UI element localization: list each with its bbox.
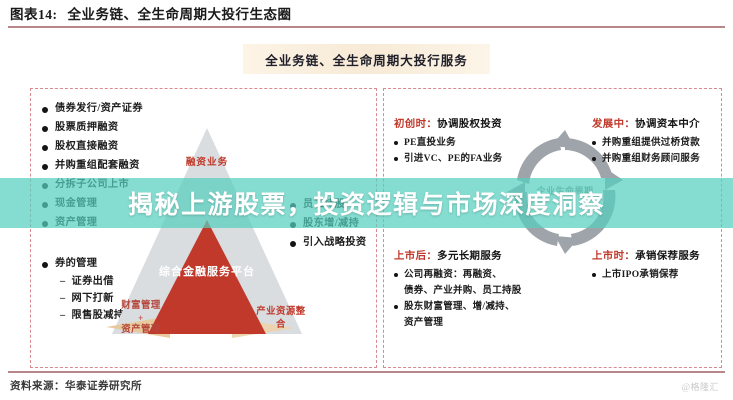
figure-canvas: 图表14:全业务链、全生命周期大投行生态圈 全业务链、全生命周期大投行服务 债券… xyxy=(0,0,733,400)
stage-name: 上市时： xyxy=(592,251,635,262)
stage-item-label: 公司再融资：再融资、 xyxy=(404,271,502,281)
stage-theme: 承销保荐服务 xyxy=(635,251,700,262)
figure-title-text: 全业务链、全生命周期大投行生态圈 xyxy=(68,7,292,22)
stage-startup: 初创时：协调股权投资 PE直投业务 引进VC、PE的FA业务 xyxy=(394,120,502,167)
stage-item: 并购重组提供过桥贷款 xyxy=(592,135,700,151)
sub-list-item-label: 证券出借 xyxy=(72,277,114,287)
dash-icon: – xyxy=(60,294,66,304)
bullet-icon xyxy=(42,164,48,170)
stage-heading: 发展中：协调资本中介 xyxy=(592,120,700,130)
stage-item-label: 债券、产业并购、员工持股 xyxy=(394,287,522,297)
stage-item-label: 引进VC、PE的FA业务 xyxy=(404,155,502,165)
bullet-icon xyxy=(42,145,48,151)
title-divider xyxy=(8,26,725,28)
stage-theme: 协调股权投资 xyxy=(437,119,502,130)
pyramid-left-label-plus: + xyxy=(98,313,184,324)
stage-theme: 协调资本中介 xyxy=(635,119,700,130)
bullet-icon xyxy=(42,262,48,268)
pyramid-left-label-top: 财富管理 xyxy=(121,301,161,311)
stage-item: 股东财富管理、增/减持、 xyxy=(394,299,522,315)
stage-item-label: 上市IPO承销保荐 xyxy=(602,271,679,281)
stage-postlisting: 上市后：多元长期服务 公司再融资：再融资、 债券、产业并购、员工持股 股东财富管… xyxy=(394,252,522,331)
pyramid-core-label: 综合金融服务平台 xyxy=(159,264,255,280)
list-item: 债券发行/资产证券 xyxy=(42,100,143,119)
bullet-icon xyxy=(42,126,48,132)
stage-item-label: 股东财富管理、增/减持、 xyxy=(404,303,515,313)
pyramid-right-label: 产业资源整合 xyxy=(252,306,310,332)
watermark: @格隆汇 xyxy=(682,380,719,393)
bullet-icon xyxy=(394,273,398,277)
stage-item: PE直投业务 xyxy=(394,135,502,151)
pyramid-left-label-bottom: 资产管理 xyxy=(121,325,161,335)
stage-item-label: PE直投业务 xyxy=(404,139,456,149)
stage-listing: 上市时：承销保荐服务 上市IPO承销保荐 xyxy=(592,252,700,283)
figure-number: 图表14: xyxy=(10,7,58,22)
stage-heading: 上市后：多元长期服务 xyxy=(394,252,522,262)
figure-title: 图表14:全业务链、全生命周期大投行生态圈 xyxy=(10,3,725,25)
bullet-icon xyxy=(394,141,398,145)
pyramid-top-label: 融资业务 xyxy=(172,156,242,169)
pyramid-diagram: 融资业务 综合金融服务平台 产业资源整合 财富管理 + 资产管理 xyxy=(112,128,302,358)
stage-growth: 发展中：协调资本中介 并购重组提供过桥贷款 并购重组财务顾问服务 xyxy=(592,120,700,167)
stage-theme: 多元长期服务 xyxy=(437,251,502,262)
stage-item-label: 并购重组财务顾问服务 xyxy=(602,155,700,165)
stage-item: 公司再融资：再融资、 xyxy=(394,267,522,283)
stage-item: 引进VC、PE的FA业务 xyxy=(394,151,502,167)
stage-item: 上市IPO承销保荐 xyxy=(592,267,700,283)
stage-heading: 上市时：承销保荐服务 xyxy=(592,252,700,262)
stage-item-label: 资产管理 xyxy=(394,319,443,329)
overlay-headline: 揭秘上游股票，投资逻辑与市场深度洞察 xyxy=(0,178,733,228)
bullet-icon xyxy=(592,141,596,145)
stage-item: 债券、产业并购、员工持股 xyxy=(394,283,522,299)
stage-name: 上市后： xyxy=(394,251,437,262)
banner-heading: 全业务链、全生命周期大投行服务 xyxy=(243,44,490,74)
source-note: 资料来源：华泰证券研究所 xyxy=(10,378,142,393)
list-item-label: 股权直接融资 xyxy=(55,142,119,152)
dash-icon: – xyxy=(60,311,66,321)
stage-item-label: 并购重组提供过桥贷款 xyxy=(602,139,700,149)
pyramid-left-label: 财富管理 + 资产管理 xyxy=(98,300,184,337)
list-item-label: 债券发行/资产证券 xyxy=(55,104,143,114)
stage-item: 并购重组财务顾问服务 xyxy=(592,151,700,167)
list-item-label: 引入战略投资 xyxy=(303,238,367,248)
stage-name: 发展中： xyxy=(592,119,635,130)
list-item-label: 股票质押融资 xyxy=(55,123,119,133)
stage-name: 初创时： xyxy=(394,119,437,130)
bullet-icon xyxy=(394,305,398,309)
bullet-icon xyxy=(42,107,48,113)
bullet-icon xyxy=(592,157,596,161)
dash-icon: – xyxy=(60,277,66,287)
list-item-label: 券的管理 xyxy=(55,259,97,269)
footer-divider xyxy=(8,371,725,373)
stage-heading: 初创时：协调股权投资 xyxy=(394,120,502,130)
bullet-icon xyxy=(592,273,596,277)
stage-item: 资产管理 xyxy=(394,315,522,331)
bullet-icon xyxy=(394,157,398,161)
